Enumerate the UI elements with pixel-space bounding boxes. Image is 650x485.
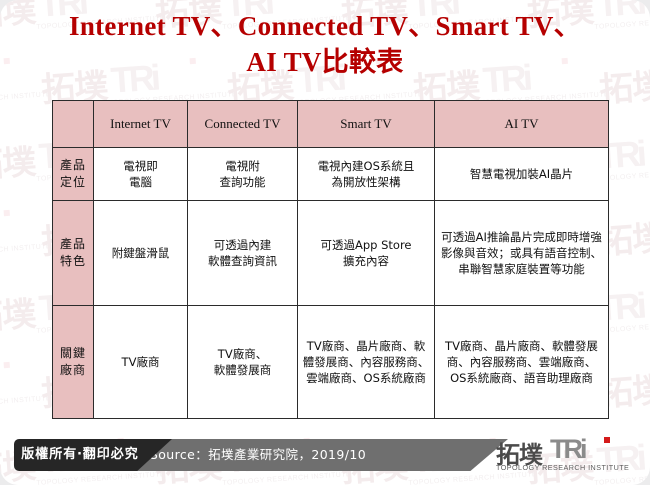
row-label-line-2: 廠商 bbox=[60, 363, 86, 377]
cell-features-connected-tv: 可透過內建軟體查詢資訊 bbox=[188, 201, 298, 306]
column-header-internet-tv: Internet TV bbox=[94, 101, 188, 148]
cell-positioning-smart-tv: 電視內建OS系統且為開放性架構 bbox=[298, 148, 435, 201]
row-label-line-1: 產品 bbox=[60, 237, 86, 251]
watermark-cjk: 拓墣 bbox=[0, 134, 37, 187]
column-header-ai-tv: AI TV bbox=[435, 101, 609, 148]
tri-logo-mark: TRi bbox=[550, 434, 585, 465]
cell-vendors-connected-tv: TV廠商、軟體發展商 bbox=[188, 306, 298, 419]
row-label-key-vendors: 關鍵 廠商 bbox=[53, 306, 94, 419]
cell-features-internet-tv: 附鍵盤滑鼠 bbox=[94, 201, 188, 306]
tri-logo-subtitle: TOPOLOGY RESEARCH INSTITUTE bbox=[496, 463, 629, 472]
cell-features-smart-tv: 可透過App Store擴充內容 bbox=[298, 201, 435, 306]
column-header-smart-tv: Smart TV bbox=[298, 101, 435, 148]
comparison-table: Internet TV Connected TV Smart TV AI TV … bbox=[52, 100, 609, 419]
table-corner-cell bbox=[53, 101, 94, 148]
watermark-subtitle: TOPOLOGY RESEARCH INSTITUTE bbox=[0, 91, 51, 107]
cell-vendors-ai-tv: TV廠商、晶片廠商、軟體發展商、內容服務商、雲端廠商、OS系統廠商、語音助理廠商 bbox=[435, 306, 609, 419]
watermark-subtitle: TOPOLOGY RESEARCH INSTITUTE bbox=[0, 395, 51, 411]
tri-logo-red-dot-icon bbox=[604, 437, 610, 443]
row-label-features: 產品 特色 bbox=[53, 201, 94, 306]
row-label-positioning: 產品 定位 bbox=[53, 148, 94, 201]
table-header-row: Internet TV Connected TV Smart TV AI TV bbox=[53, 101, 609, 148]
page-title-line-1: Internet TV、Connected TV、Smart TV、 bbox=[0, 8, 650, 44]
footer-copyright-text: 版權所有‧翻印必究 bbox=[14, 439, 146, 471]
column-header-connected-tv: Connected TV bbox=[188, 101, 298, 148]
row-label-line-2: 特色 bbox=[60, 254, 86, 268]
row-label-line-1: 關鍵 bbox=[60, 346, 86, 360]
table-row: 關鍵 廠商 TV廠商 TV廠商、軟體發展商 TV廠商、晶片廠商、軟體發展商、內容… bbox=[53, 306, 609, 419]
page-title: Internet TV、Connected TV、Smart TV、 AI TV… bbox=[0, 8, 650, 80]
cell-vendors-smart-tv: TV廠商、晶片廠商、軟體發展商、內容服務商、雲端廠商、OS系統廠商 bbox=[298, 306, 435, 419]
cell-vendors-internet-tv: TV廠商 bbox=[94, 306, 188, 419]
page-title-line-2: AI TV比較表 bbox=[0, 44, 650, 80]
row-label-line-2: 定位 bbox=[60, 175, 86, 189]
watermark-dot-icon bbox=[4, 210, 10, 216]
table-row: 產品 特色 附鍵盤滑鼠 可透過內建軟體查詢資訊 可透過App Store擴充內容… bbox=[53, 201, 609, 306]
cell-positioning-internet-tv: 電視即電腦 bbox=[94, 148, 188, 201]
watermark-cjk: 拓墣 bbox=[0, 286, 37, 339]
watermark-dot-icon bbox=[4, 362, 10, 368]
cell-features-ai-tv: 可透過AI推論晶片完成即時增強影像與音效；或具有語音控制、串聯智慧家庭裝置等功能 bbox=[435, 201, 609, 306]
table-row: 產品 定位 電視即電腦 電視附查詢功能 電視內建OS系統且為開放性架構 智慧電視… bbox=[53, 148, 609, 201]
slide-card: 拓墣TRiTOPOLOGY RESEARCH INSTITUTE拓墣TRiTOP… bbox=[0, 0, 650, 485]
cell-positioning-connected-tv: 電視附查詢功能 bbox=[188, 148, 298, 201]
watermark-subtitle: TOPOLOGY RESEARCH INSTITUTE bbox=[0, 243, 51, 259]
tri-logo: 拓墣 TRi TOPOLOGY RESEARCH INSTITUTE bbox=[488, 435, 636, 475]
row-label-line-1: 產品 bbox=[60, 158, 86, 172]
watermark-tile: 拓墣TRiTOPOLOGY RESEARCH INSTITUTE bbox=[0, 201, 48, 292]
footer-bar: Source：拓墣產業研究院，2019/10 版權所有‧翻印必究 拓墣 TRi … bbox=[0, 431, 650, 477]
cell-positioning-ai-tv: 智慧電視加裝AI晶片 bbox=[435, 148, 609, 201]
